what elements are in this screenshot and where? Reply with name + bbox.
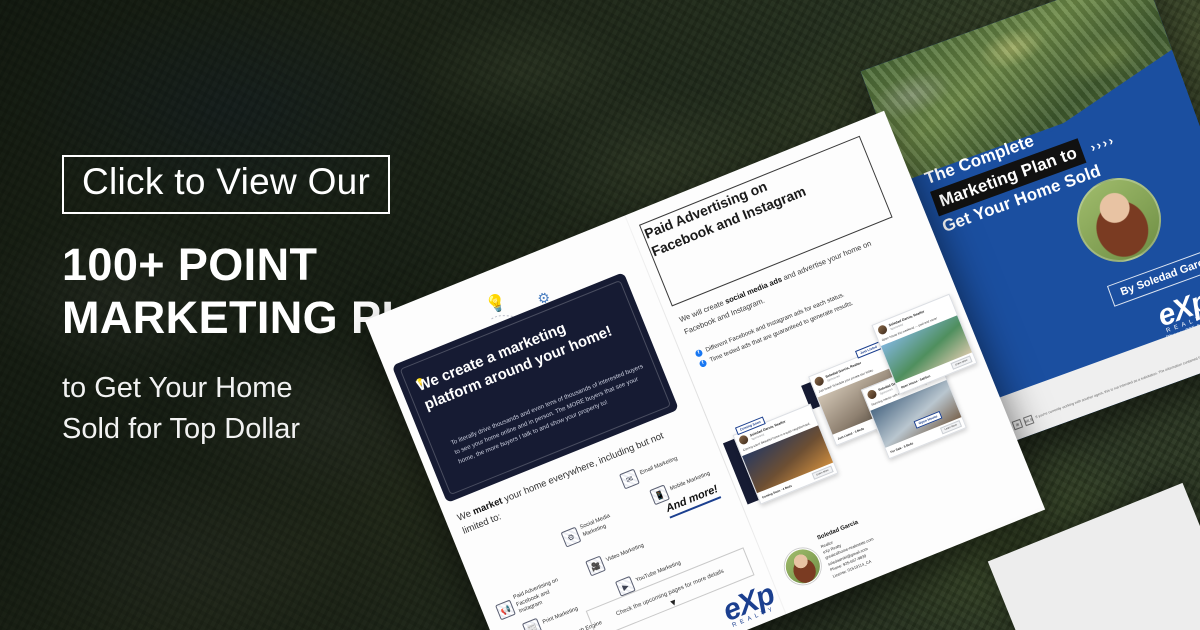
avatar	[738, 434, 750, 446]
share-network-icon: ⚙	[561, 527, 582, 548]
channel-social-media: ⚙ Social Media Marketing	[561, 506, 634, 548]
channel-label: Video Marketing	[605, 543, 645, 565]
film-icon: 🎥	[585, 556, 606, 577]
newspaper-icon: 📰	[522, 618, 543, 630]
megaphone-icon: 📢	[495, 600, 516, 621]
facebook-bullet-icon: f	[699, 359, 708, 368]
avatar	[877, 324, 889, 336]
cta-label: Click to View Our	[82, 163, 370, 202]
channel-label: Print Marketing	[542, 606, 580, 627]
channel-label: Social Media Marketing	[579, 506, 633, 539]
title-line-1: 100+ POINT	[62, 238, 482, 291]
facebook-bullet-icon: f	[694, 349, 703, 358]
avatar	[779, 543, 826, 590]
avatar	[813, 375, 825, 387]
channel-video-marketing: 🎥 Video Marketing	[585, 539, 647, 576]
avatar	[866, 389, 878, 401]
facebook-ad-mockups: Coming Soon Soledad Garcia, Realtor Spon…	[702, 289, 1011, 550]
click-to-view-cta[interactable]: Click to View Our	[62, 155, 390, 214]
